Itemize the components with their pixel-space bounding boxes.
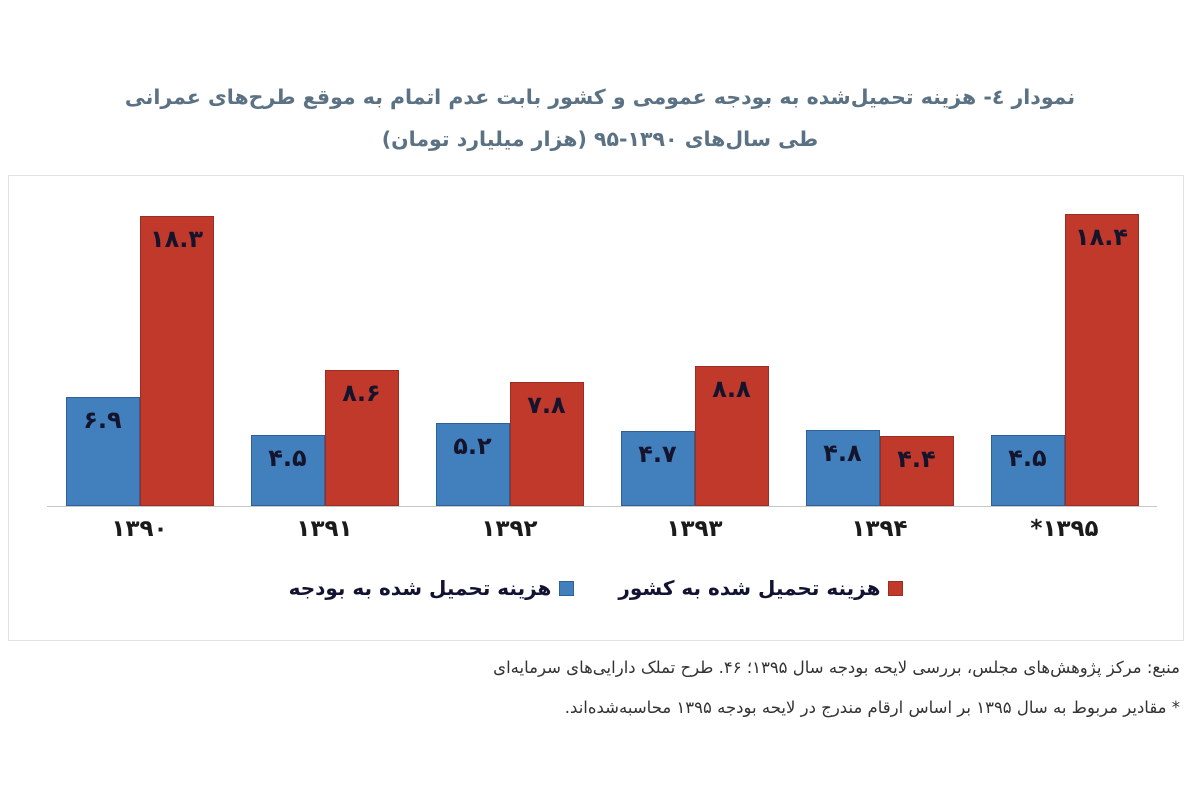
bar-group: ۵.۲۷.۸: [417, 194, 602, 506]
bar-value-label: ۴.۵: [252, 444, 324, 472]
category-label: ۱۳۹۳: [602, 516, 787, 556]
bar-blue[interactable]: ۴.۷: [621, 431, 695, 506]
category-axis-line: [47, 506, 1157, 507]
bar-value-label: ۱۸.۳: [141, 225, 213, 253]
footnotes: منبع: مرکز پژوهش‌های مجلس، بررسی لایحه ب…: [8, 648, 1180, 728]
bar-value-label: ۴.۵: [992, 444, 1064, 472]
category-labels: ۱۳۹۰۱۳۹۱۱۳۹۲۱۳۹۳۱۳۹۴۱۳۹۵*: [47, 516, 1157, 556]
chart-frame: ۶.۹۱۸.۳۴.۵۸.۶۵.۲۷.۸۴.۷۸.۸۴.۸۴.۴۴.۵۱۸.۴ ۱…: [8, 175, 1184, 641]
bar-red[interactable]: ۱۸.۳: [140, 216, 214, 506]
page-title: نمودار ٤- هزینه تحمیل‌شده به بودجه عمومی…: [0, 76, 1200, 160]
category-label: ۱۳۹۲: [417, 516, 602, 556]
bar-value-label: ۴.۸: [807, 439, 879, 467]
legend-swatch-red: [888, 581, 903, 596]
bar-red[interactable]: ۸.۶: [325, 370, 399, 506]
bar-red[interactable]: ۴.۴: [880, 436, 954, 506]
bar-blue[interactable]: ۵.۲: [436, 423, 510, 506]
category-label: ۱۳۹۰: [47, 516, 232, 556]
title-line-1: نمودار ٤- هزینه تحمیل‌شده به بودجه عمومی…: [0, 76, 1200, 118]
bar-group: ۴.۷۸.۸: [602, 194, 787, 506]
bar-value-label: ۵.۲: [437, 432, 509, 460]
bar-red[interactable]: ۷.۸: [510, 382, 584, 506]
chart-legend: هزینه تحمیل شده به کشورهزینه تحمیل شده ب…: [9, 576, 1183, 600]
legend-label: هزینه تحمیل شده به بودجه: [289, 576, 552, 600]
chart-page: نمودار ٤- هزینه تحمیل‌شده به بودجه عمومی…: [0, 0, 1200, 799]
bar-blue[interactable]: ۶.۹: [66, 397, 140, 507]
legend-item[interactable]: هزینه تحمیل شده به کشور: [618, 576, 903, 600]
bar-group: ۴.۸۴.۴: [787, 194, 972, 506]
bar-blue[interactable]: ۴.۵: [991, 435, 1065, 506]
asterisk-note: * مقادیر مربوط به سال ۱۳۹۵ بر اساس ارقام…: [8, 688, 1180, 728]
bar-red[interactable]: ۱۸.۴: [1065, 214, 1139, 506]
bar-group: ۶.۹۱۸.۳: [47, 194, 232, 506]
title-line-2: طی سال‌های ۱۳۹۰-۹۵ (هزار میلیارد تومان): [0, 118, 1200, 160]
category-label: ۱۳۹۴: [787, 516, 972, 556]
category-label: ۱۳۹۱: [232, 516, 417, 556]
bar-group: ۴.۵۸.۶: [232, 194, 417, 506]
bar-value-label: ۷.۸: [511, 391, 583, 419]
category-label: ۱۳۹۵*: [972, 516, 1157, 556]
bar-groups: ۶.۹۱۸.۳۴.۵۸.۶۵.۲۷.۸۴.۷۸.۸۴.۸۴.۴۴.۵۱۸.۴: [47, 194, 1157, 506]
bar-value-label: ۴.۷: [622, 440, 694, 468]
bar-value-label: ۴.۴: [881, 445, 953, 473]
legend-item[interactable]: هزینه تحمیل شده به بودجه: [289, 576, 575, 600]
legend-swatch-blue: [559, 581, 574, 596]
bar-value-label: ۸.۶: [326, 379, 398, 407]
bar-value-label: ۱۸.۴: [1066, 223, 1138, 251]
bar-red[interactable]: ۸.۸: [695, 366, 769, 506]
bar-blue[interactable]: ۴.۸: [806, 430, 880, 506]
bar-value-label: ۸.۸: [696, 375, 768, 403]
bar-group: ۴.۵۱۸.۴: [972, 194, 1157, 506]
bar-blue[interactable]: ۴.۵: [251, 435, 325, 506]
bar-value-label: ۶.۹: [67, 406, 139, 434]
legend-label: هزینه تحمیل شده به کشور: [618, 576, 880, 600]
source-note: منبع: مرکز پژوهش‌های مجلس، بررسی لایحه ب…: [8, 648, 1180, 688]
